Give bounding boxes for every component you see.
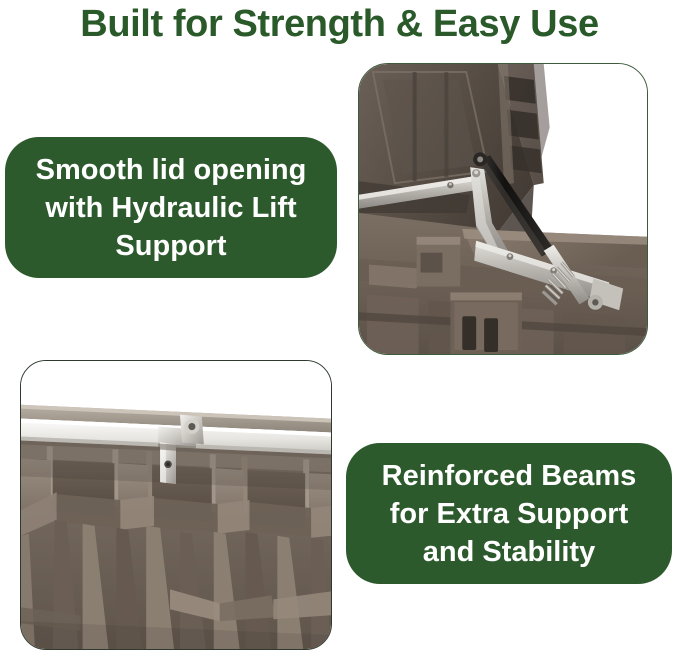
page-title: Built for Strength & Easy Use: [0, 2, 679, 46]
photo-reinforced-beams: [20, 360, 332, 650]
callout-hydraulic-lift: Smooth lid opening with Hydraulic Lift S…: [5, 137, 337, 278]
photo-hydraulic-lift: [358, 63, 648, 355]
callout-hydraulic-lift-text: Smooth lid opening with Hydraulic Lift S…: [17, 151, 325, 265]
reinforced-beams-illustration: [21, 361, 331, 649]
hydraulic-lift-illustration: [359, 64, 647, 354]
hinge-block: [417, 237, 461, 287]
latch-housing: [450, 292, 522, 354]
callout-reinforced-beams-text: Reinforced Beams for Extra Support and S…: [360, 457, 658, 571]
callout-reinforced-beams: Reinforced Beams for Extra Support and S…: [346, 443, 672, 584]
lid-edge-ribs: [498, 64, 550, 185]
